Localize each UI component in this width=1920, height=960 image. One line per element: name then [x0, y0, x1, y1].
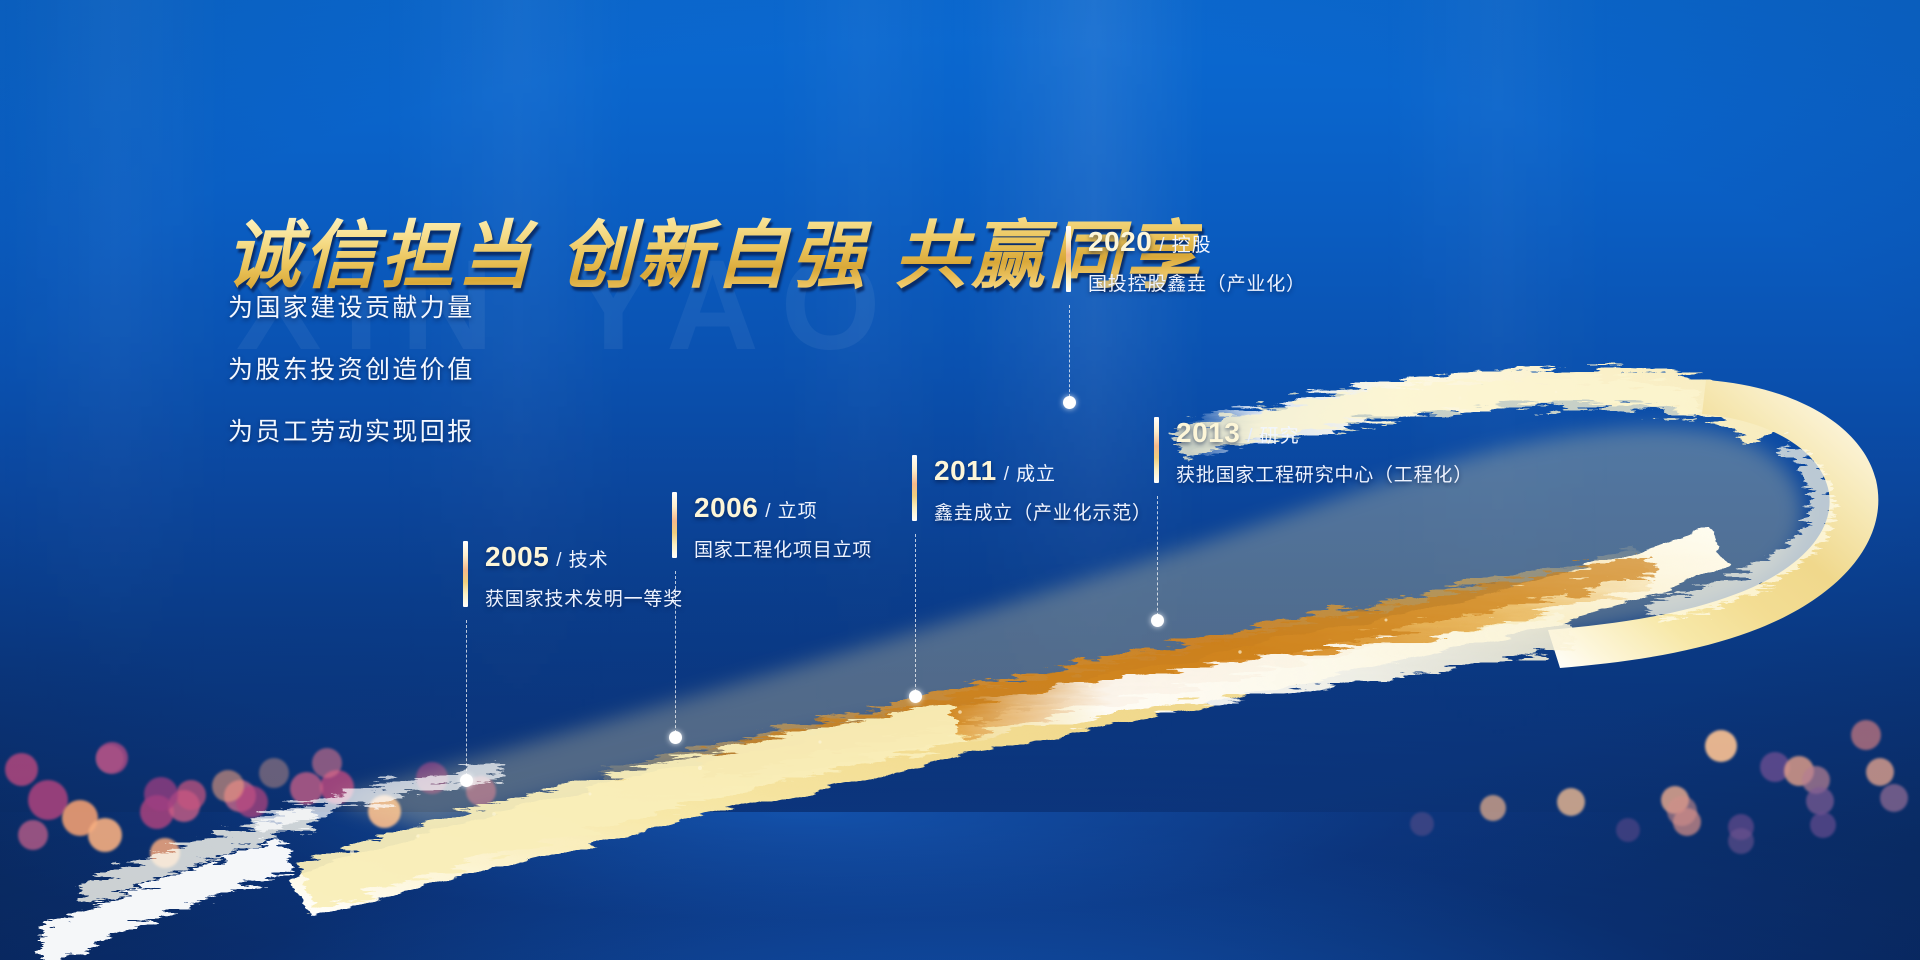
milestone-tag: 立项	[778, 496, 818, 523]
page-title-part-1: 诚信担当	[226, 214, 534, 297]
timeline-leader-line	[1157, 496, 1158, 626]
milestone-description: 国投控股鑫垚（产业化）	[1088, 269, 1306, 296]
milestone-text: 2006/立项国家工程化项目立项	[694, 492, 872, 562]
milestone-year: 2006	[694, 492, 758, 524]
timeline-leader-line	[1069, 305, 1070, 407]
slogan-item: 为股东投资创造价值	[228, 350, 475, 386]
milestone-heading: 2020/控股	[1088, 226, 1306, 258]
milestone-separator: /	[1159, 235, 1164, 257]
milestone-tag: 技术	[569, 545, 609, 572]
milestone-text: 2005/技术获国家技术发明一等奖	[485, 541, 683, 611]
milestone-year: 2011	[934, 455, 997, 487]
milestone-separator: /	[556, 550, 561, 572]
timeline-leader-line	[915, 534, 916, 702]
milestone-heading: 2013/研究	[1176, 417, 1473, 449]
timeline-node-dot[interactable]	[1063, 396, 1076, 409]
milestone-heading: 2005/技术	[485, 541, 683, 573]
milestone-separator: /	[1247, 426, 1252, 448]
timeline-node-dot[interactable]	[669, 731, 682, 744]
timeline-leader-line	[675, 571, 676, 743]
milestone-accent-bar	[912, 455, 917, 521]
milestone-heading: 2006/立项	[694, 492, 872, 524]
timeline-leader-line	[466, 620, 467, 786]
timeline-node-dot[interactable]	[909, 690, 922, 703]
milestone-separator: /	[765, 501, 770, 523]
page-title: 诚信担当创新自强共赢同享	[226, 196, 1202, 303]
slogan-item: 为国家建设贡献力量	[228, 288, 475, 324]
milestone-year: 2020	[1088, 226, 1152, 258]
timeline-node-dot[interactable]	[1151, 614, 1164, 627]
milestone-description: 鑫垚成立（产业化示范）	[934, 498, 1152, 525]
banner-canvas: XIN YAO 诚信担当创新自强共赢同享 为国家建设贡献力量 为股东投资创造价值…	[0, 0, 1920, 960]
milestone-separator: /	[1004, 464, 1009, 486]
milestone-description: 获国家技术发明一等奖	[485, 584, 683, 611]
milestone-tag: 成立	[1016, 459, 1056, 486]
slogan-list: 为国家建设贡献力量 为股东投资创造价值 为员工劳动实现回报	[228, 288, 475, 474]
milestone-accent-bar	[672, 492, 677, 558]
milestone-accent-bar	[1154, 417, 1159, 483]
milestone-year: 2013	[1176, 417, 1240, 449]
milestone-text: 2013/研究获批国家工程研究中心（工程化）	[1176, 417, 1473, 487]
milestone-description: 获批国家工程研究中心（工程化）	[1176, 460, 1473, 487]
milestone-text: 2020/控股国投控股鑫垚（产业化）	[1088, 226, 1306, 296]
page-title-part-2: 创新自强	[560, 214, 868, 297]
milestone-tag: 研究	[1260, 421, 1300, 448]
slogan-item: 为员工劳动实现回报	[228, 412, 475, 448]
timeline-node-dot[interactable]	[460, 774, 473, 787]
milestone-heading: 2011/成立	[934, 455, 1152, 487]
milestone-text: 2011/成立鑫垚成立（产业化示范）	[934, 455, 1152, 525]
milestone-description: 国家工程化项目立项	[694, 535, 872, 562]
milestone-accent-bar	[1066, 226, 1071, 292]
milestone-tag: 控股	[1172, 230, 1212, 257]
milestone-accent-bar	[463, 541, 468, 607]
milestone-year: 2005	[485, 541, 549, 573]
